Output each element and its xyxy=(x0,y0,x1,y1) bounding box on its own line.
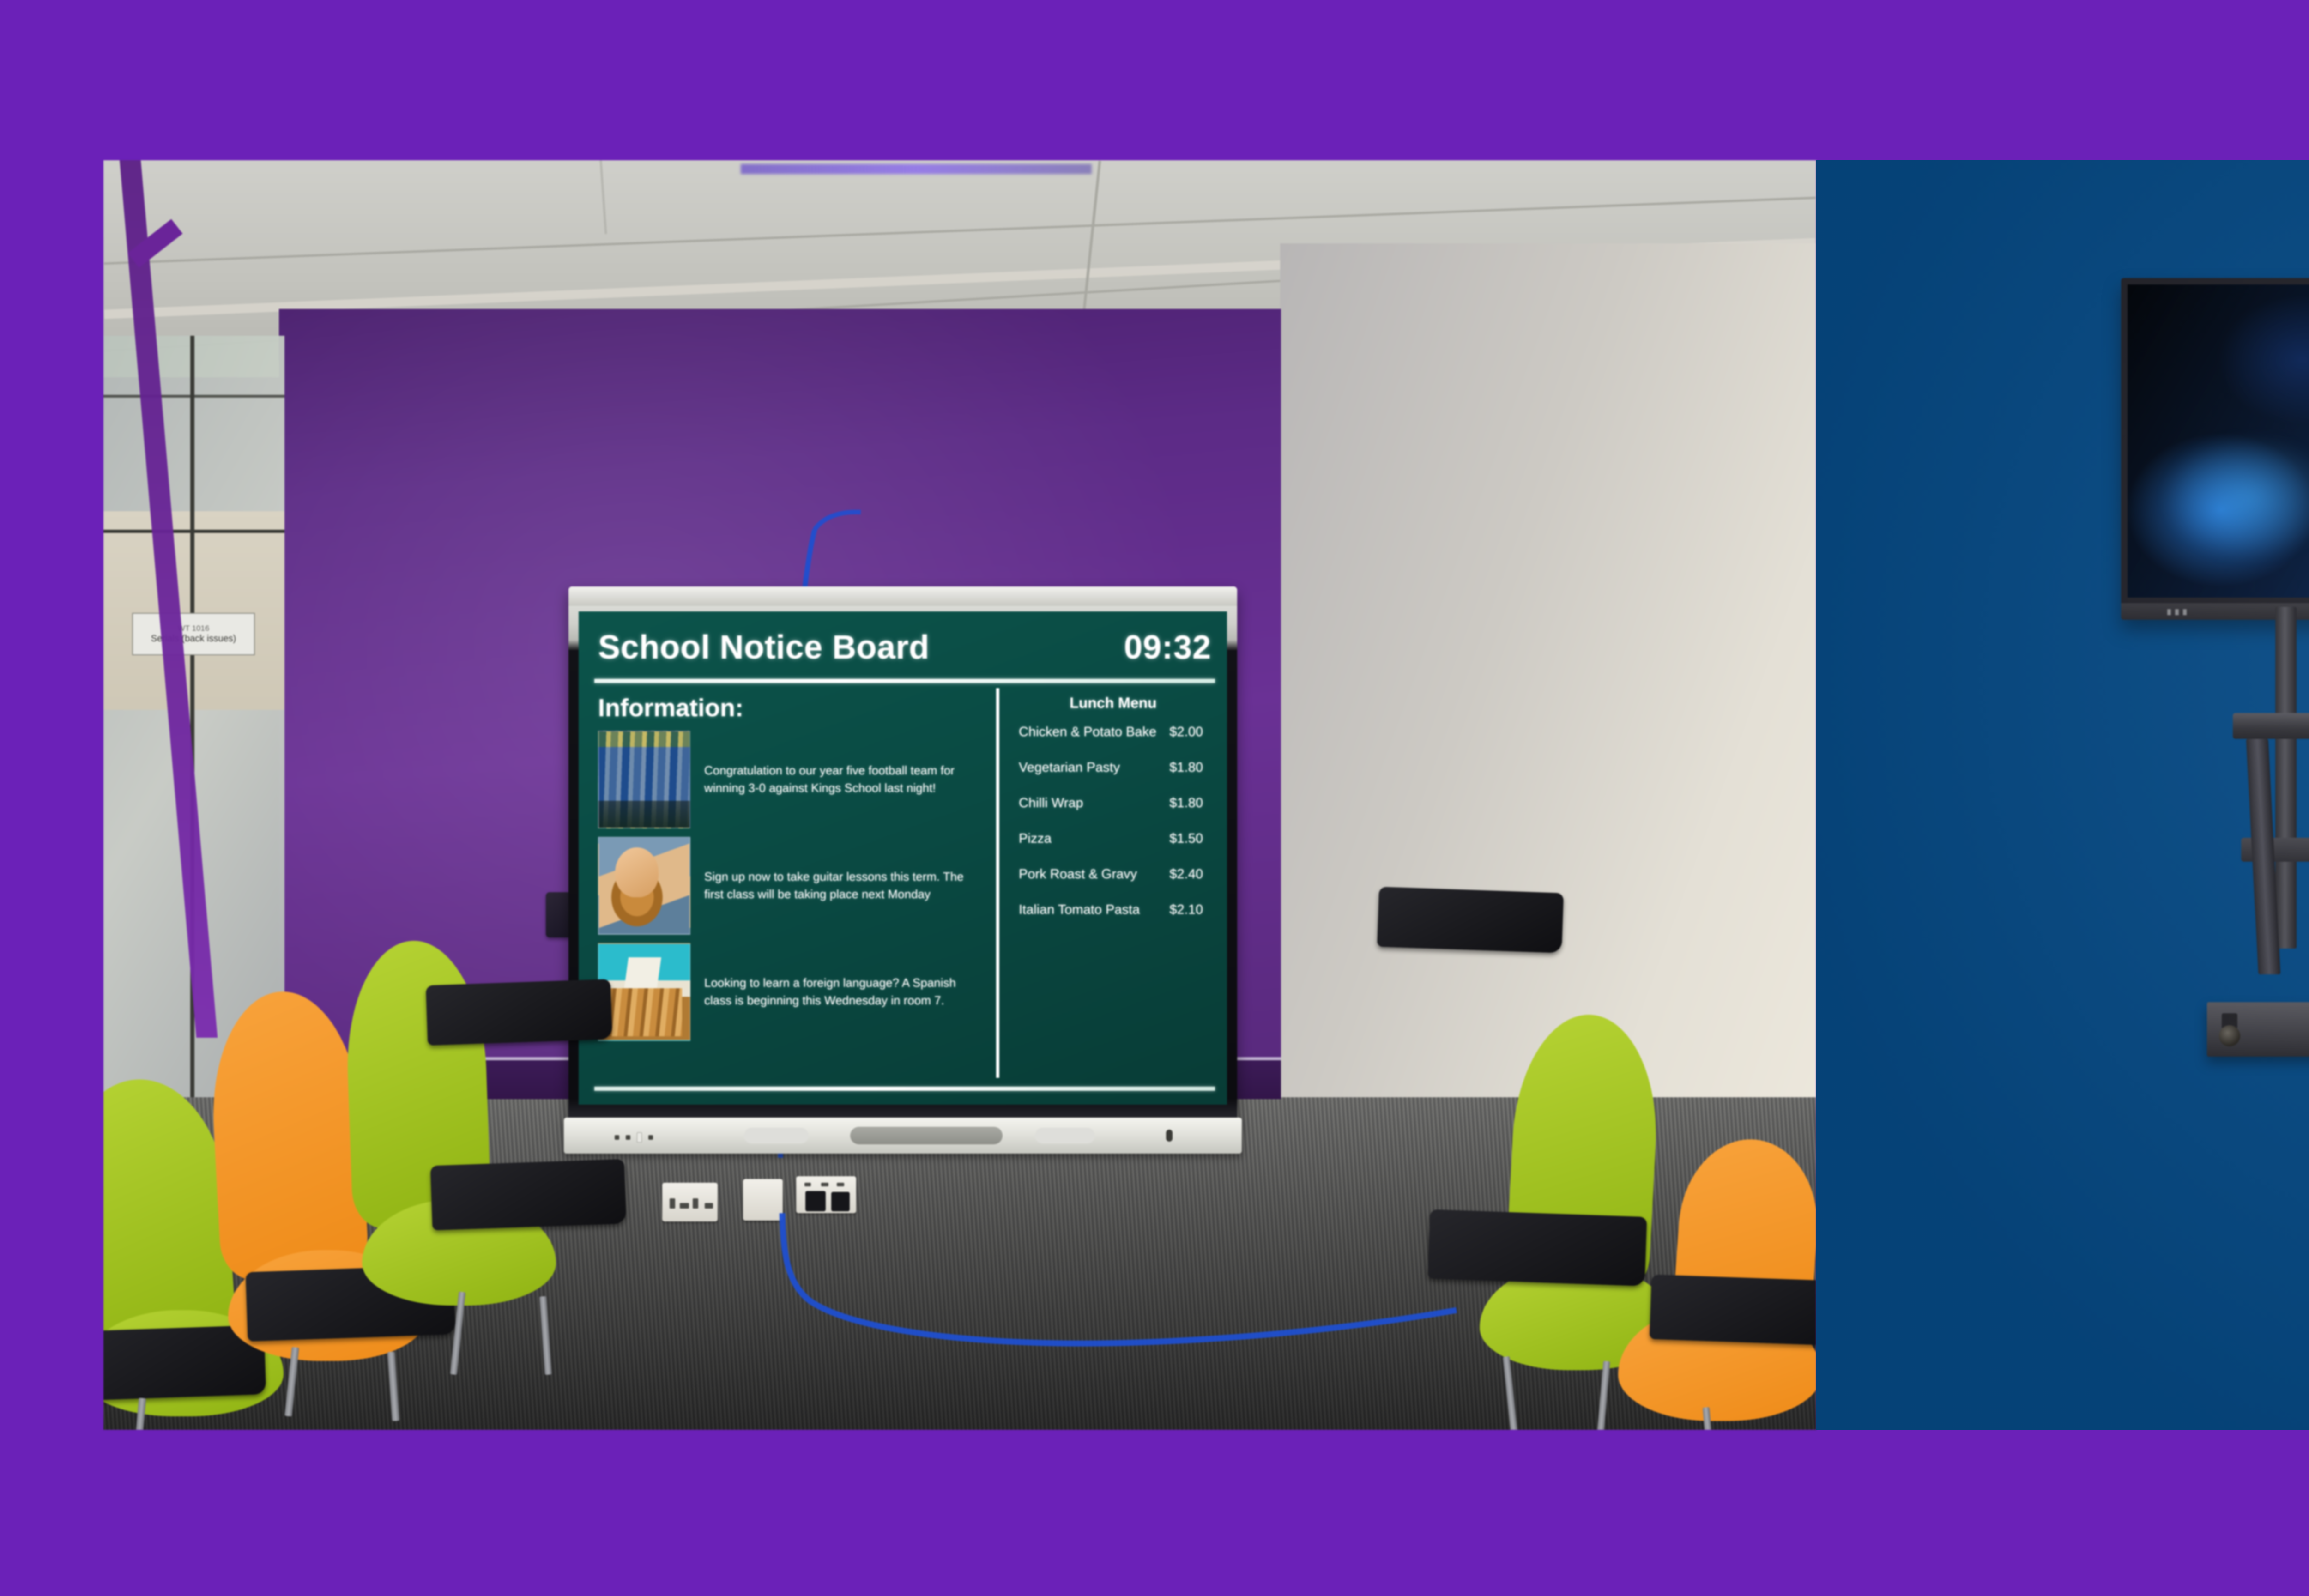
notice-text: Looking to learn a foreign language? A S… xyxy=(704,974,981,1009)
guitar-player-photo xyxy=(598,837,690,935)
notice-item: Congratulation to our year five football… xyxy=(598,731,986,828)
clock: 09:32 xyxy=(1124,629,1211,666)
menu-item-price: $1.80 xyxy=(1169,760,1203,775)
menu-row: Vegetarian Pasty $1.80 xyxy=(1011,760,1215,775)
menu-row: Pizza $1.50 xyxy=(1011,831,1215,846)
school-notice-board: School Notice Board 09:32 Information: C… xyxy=(579,611,1227,1105)
lunch-menu-column: Lunch Menu Chicken & Potato Bake $2.00 V… xyxy=(999,688,1215,1078)
menu-item-name: Vegetarian Pasty xyxy=(1019,760,1120,775)
notice-board-header: School Notice Board 09:32 xyxy=(598,622,1211,673)
menu-item-name: Chicken & Potato Bake xyxy=(1019,725,1156,740)
stand-shelf xyxy=(2233,713,2309,739)
tray-microphone-icon xyxy=(1166,1130,1173,1142)
whiteboard-screen[interactable]: School Notice Board 09:32 Information: C… xyxy=(579,611,1227,1105)
tray-pen-slot[interactable] xyxy=(850,1127,1003,1144)
menu-item-price: $1.80 xyxy=(1169,796,1203,811)
page-title: School Notice Board xyxy=(598,629,930,666)
menu-item-name: Italian Tomato Pasta xyxy=(1019,902,1140,918)
stand-base-plate xyxy=(2207,1002,2309,1057)
football-team-photo xyxy=(598,731,690,828)
stand-leg-left xyxy=(2246,739,2281,974)
classroom-photo: WT 1016 Serials (back issues) xyxy=(103,160,1816,1430)
power-socket-in-use-icon xyxy=(796,1176,856,1213)
menu-item-price: $2.00 xyxy=(1169,725,1203,740)
chair-tablet-arm xyxy=(426,979,612,1046)
notice-board-body: Information: Congratulation to our year … xyxy=(594,688,1215,1078)
whiteboard-frame: School Notice Board 09:32 Information: C… xyxy=(568,586,1237,1120)
whiteboard-pen-tray[interactable] xyxy=(564,1118,1242,1154)
flat-panel-display[interactable] xyxy=(2121,278,2309,620)
panel-row: WT 1016 Serials (back issues) xyxy=(103,160,2309,1430)
blank-wall-plate xyxy=(743,1179,783,1221)
whiteboard-top-bezel xyxy=(568,586,1237,606)
library-sign: WT 1016 Serials (back issues) xyxy=(132,613,255,655)
mobile-trolley-stand xyxy=(2207,607,2309,1096)
menu-row: Chilli Wrap $1.80 xyxy=(1011,796,1215,811)
lunch-menu-heading: Lunch Menu xyxy=(1011,695,1215,712)
notice-text: Congratulation to our year five football… xyxy=(704,762,981,797)
display-screen[interactable] xyxy=(2128,284,2309,598)
page-root: WT 1016 Serials (back issues) xyxy=(0,0,2309,1596)
menu-item-price: $2.10 xyxy=(1169,902,1203,918)
display-bottom-bezel xyxy=(2121,603,2309,620)
tray-indicator-lights xyxy=(615,1132,653,1143)
menu-row: Chicken & Potato Bake $2.00 xyxy=(1011,725,1215,740)
notice-item: Looking to learn a foreign language? A S… xyxy=(598,943,986,1041)
display-indicator-ports xyxy=(2167,609,2187,615)
header-divider xyxy=(594,679,1215,683)
menu-item-name: Pizza xyxy=(1019,831,1052,846)
ceiling-light-strip xyxy=(741,164,1092,174)
menu-item-price: $2.40 xyxy=(1169,867,1203,882)
blue-abstract-wallpaper xyxy=(2128,284,2309,598)
power-socket-icon xyxy=(662,1183,718,1221)
interactive-whiteboard[interactable]: School Notice Board 09:32 Information: C… xyxy=(568,586,1237,1158)
tray-button-right[interactable] xyxy=(1035,1128,1095,1143)
menu-item-name: Chilli Wrap xyxy=(1019,796,1083,811)
tray-button-left[interactable] xyxy=(744,1128,809,1143)
library-sign-code: WT 1016 xyxy=(178,623,210,633)
stand-post-left xyxy=(2275,607,2297,949)
menu-row: Pork Roast & Gravy $2.40 xyxy=(1011,867,1215,882)
menu-item-name: Pork Roast & Gravy xyxy=(1019,867,1137,882)
interactive-flat-panel-on-stand[interactable] xyxy=(2121,278,2309,1109)
information-heading: Information: xyxy=(598,694,986,722)
notice-text: Sign up now to take guitar lessons this … xyxy=(704,868,981,903)
chair-orange-right xyxy=(1558,1139,1816,1430)
menu-item-price: $1.50 xyxy=(1169,831,1203,846)
footer-divider xyxy=(594,1087,1215,1091)
display-on-trolley-product-shot xyxy=(1816,160,2309,1430)
chair-tablet-arm xyxy=(1377,887,1564,953)
menu-row: Italian Tomato Pasta $2.10 xyxy=(1011,902,1215,918)
notice-item: Sign up now to take guitar lessons this … xyxy=(598,837,986,935)
stand-crossbar xyxy=(2241,838,2309,862)
caster-wheel-left xyxy=(2217,1013,2243,1046)
information-column: Information: Congratulation to our year … xyxy=(594,688,999,1078)
